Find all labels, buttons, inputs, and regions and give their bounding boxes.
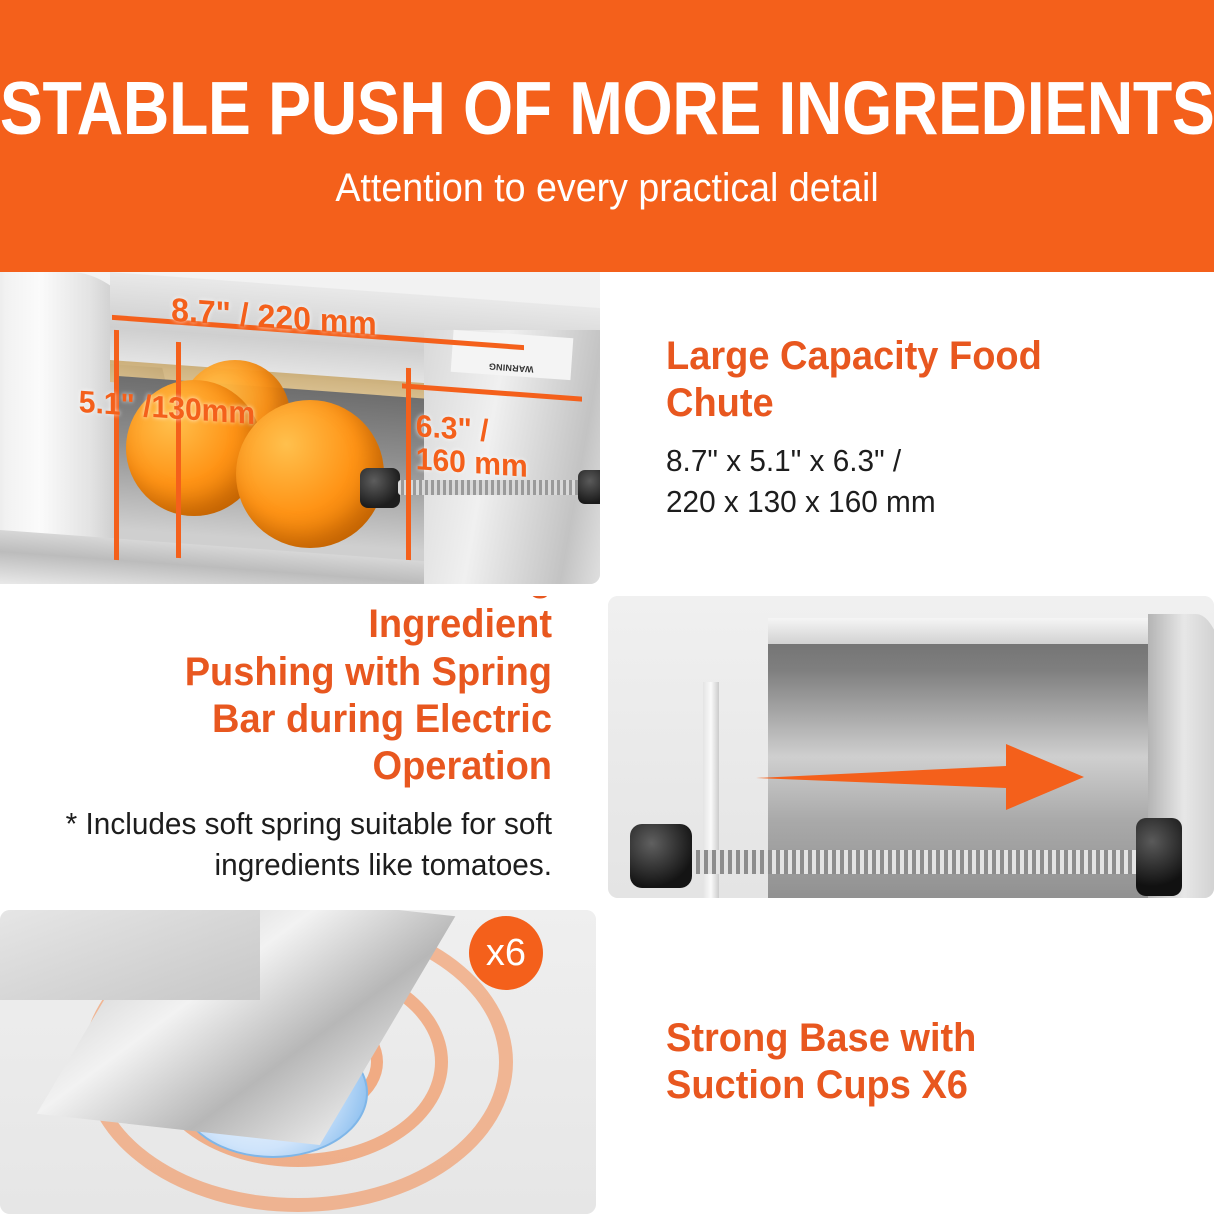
feature-heading-line2: Pushing with Spring	[185, 650, 552, 694]
feature-grid: WARNING 8.7" / 220 mm 5.1" /130mm 6.3" /…	[0, 272, 1214, 1214]
feature-body-line2: 220 x 130 x 160 mm	[666, 484, 936, 519]
feature-heading-line1: Strong Base with	[666, 1016, 976, 1060]
dimension-rule-left	[114, 330, 119, 560]
dimension-label-depth: 6.3" / 160 mm	[416, 410, 528, 483]
feature-body-line2: ingredients like tomatoes.	[215, 847, 552, 882]
knob-icon	[578, 470, 600, 504]
stainless-base-edge	[0, 910, 260, 1000]
knob-icon	[360, 468, 400, 508]
feature-body-line1: 8.7" x 5.1" x 6.3" /	[666, 443, 901, 478]
food-chute-photo: WARNING 8.7" / 220 mm 5.1" /130mm 6.3" /…	[0, 272, 600, 584]
threaded-rod	[398, 480, 598, 495]
threaded-spring-rod	[692, 850, 1148, 874]
dimension-label-depth-line2: 160 mm	[416, 441, 528, 484]
warning-label: WARNING	[451, 330, 574, 380]
feature-body-line1: * Includes soft spring suitable for soft	[66, 806, 552, 841]
feature-body: * Includes soft spring suitable for soft…	[57, 804, 552, 886]
suction-base-text: Strong Base with Suction Cups X6	[608, 910, 1214, 1214]
motion-arrow-icon	[756, 742, 1086, 817]
feature-heading: Automatic Strong Ingredient Pushing with…	[62, 596, 552, 790]
feature-heading-line3: Bar during Electric Operation	[212, 697, 552, 788]
page-subtitle: Attention to every practical detail	[335, 166, 878, 210]
feature-heading-line2: Suction Cups X6	[666, 1063, 968, 1107]
dimension-rule-left2	[176, 342, 181, 558]
feature-body: 8.7" x 5.1" x 6.3" / 220 x 130 x 160 mm	[666, 441, 1163, 523]
food-chute-text: Large Capacity Food Chute 8.7" x 5.1" x …	[608, 272, 1214, 584]
feature-heading: Strong Base with Suction Cups X6	[666, 1015, 1158, 1109]
page-title: STABLE PUSH OF MORE INGREDIENTS	[0, 71, 1214, 146]
feature-heading: Large Capacity Food Chute	[666, 333, 1158, 427]
infographic-page: STABLE PUSH OF MORE INGREDIENTS Attentio…	[0, 0, 1214, 1214]
feature-heading-line1: Automatic Strong Ingredient	[233, 596, 552, 646]
spring-pusher-text: Automatic Strong Ingredient Pushing with…	[0, 596, 596, 898]
quantity-badge: x6	[469, 916, 543, 990]
knob-icon	[630, 824, 692, 888]
spring-bar-photo	[608, 596, 1214, 898]
chamber-cap	[768, 618, 1188, 644]
header-banner: STABLE PUSH OF MORE INGREDIENTS Attentio…	[0, 0, 1214, 272]
dimension-rule-mid	[406, 368, 411, 560]
knob-icon	[1136, 818, 1182, 896]
